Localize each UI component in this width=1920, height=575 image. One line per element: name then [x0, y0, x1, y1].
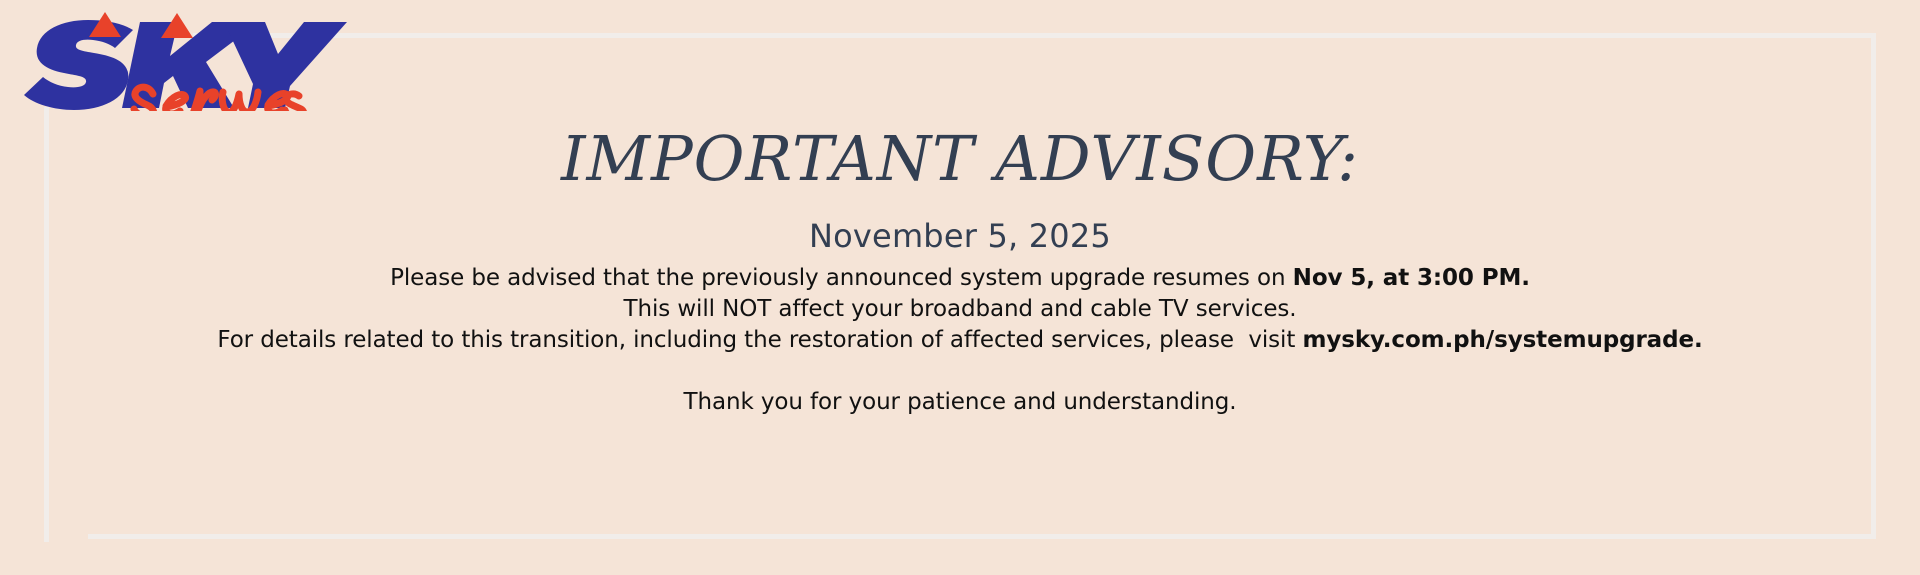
advisory-closing-line: Thank you for your patience and understa…: [0, 387, 1920, 418]
advisory-body: Please be advised that the previously an…: [0, 263, 1920, 418]
advisory-url-link[interactable]: mysky.com.ph/systemupgrade.: [1302, 327, 1702, 353]
sky-serves-logo: [16, 6, 376, 111]
frame-top-rule: [193, 33, 1876, 38]
advisory-body-line-1-bold: Nov 5, at 3:00 PM.: [1293, 265, 1530, 291]
advisory-body-line-1: Please be advised that the previously an…: [0, 263, 1920, 294]
frame-bottom-rule: [88, 534, 1876, 539]
advisory-title: IMPORTANT ADVISORY:: [0, 128, 1920, 190]
advisory-body-line-3: For details related to this transition, …: [0, 325, 1920, 356]
body-spacer: [0, 356, 1920, 387]
advisory-banner: IMPORTANT ADVISORY: November 5, 2025 Ple…: [0, 0, 1920, 575]
advisory-date: November 5, 2025: [0, 218, 1920, 255]
advisory-body-line-1-text: Please be advised that the previously an…: [390, 265, 1293, 291]
advisory-body-line-3-text: For details related to this transition, …: [217, 327, 1302, 353]
advisory-body-line-2: This will NOT affect your broadband and …: [0, 294, 1920, 325]
